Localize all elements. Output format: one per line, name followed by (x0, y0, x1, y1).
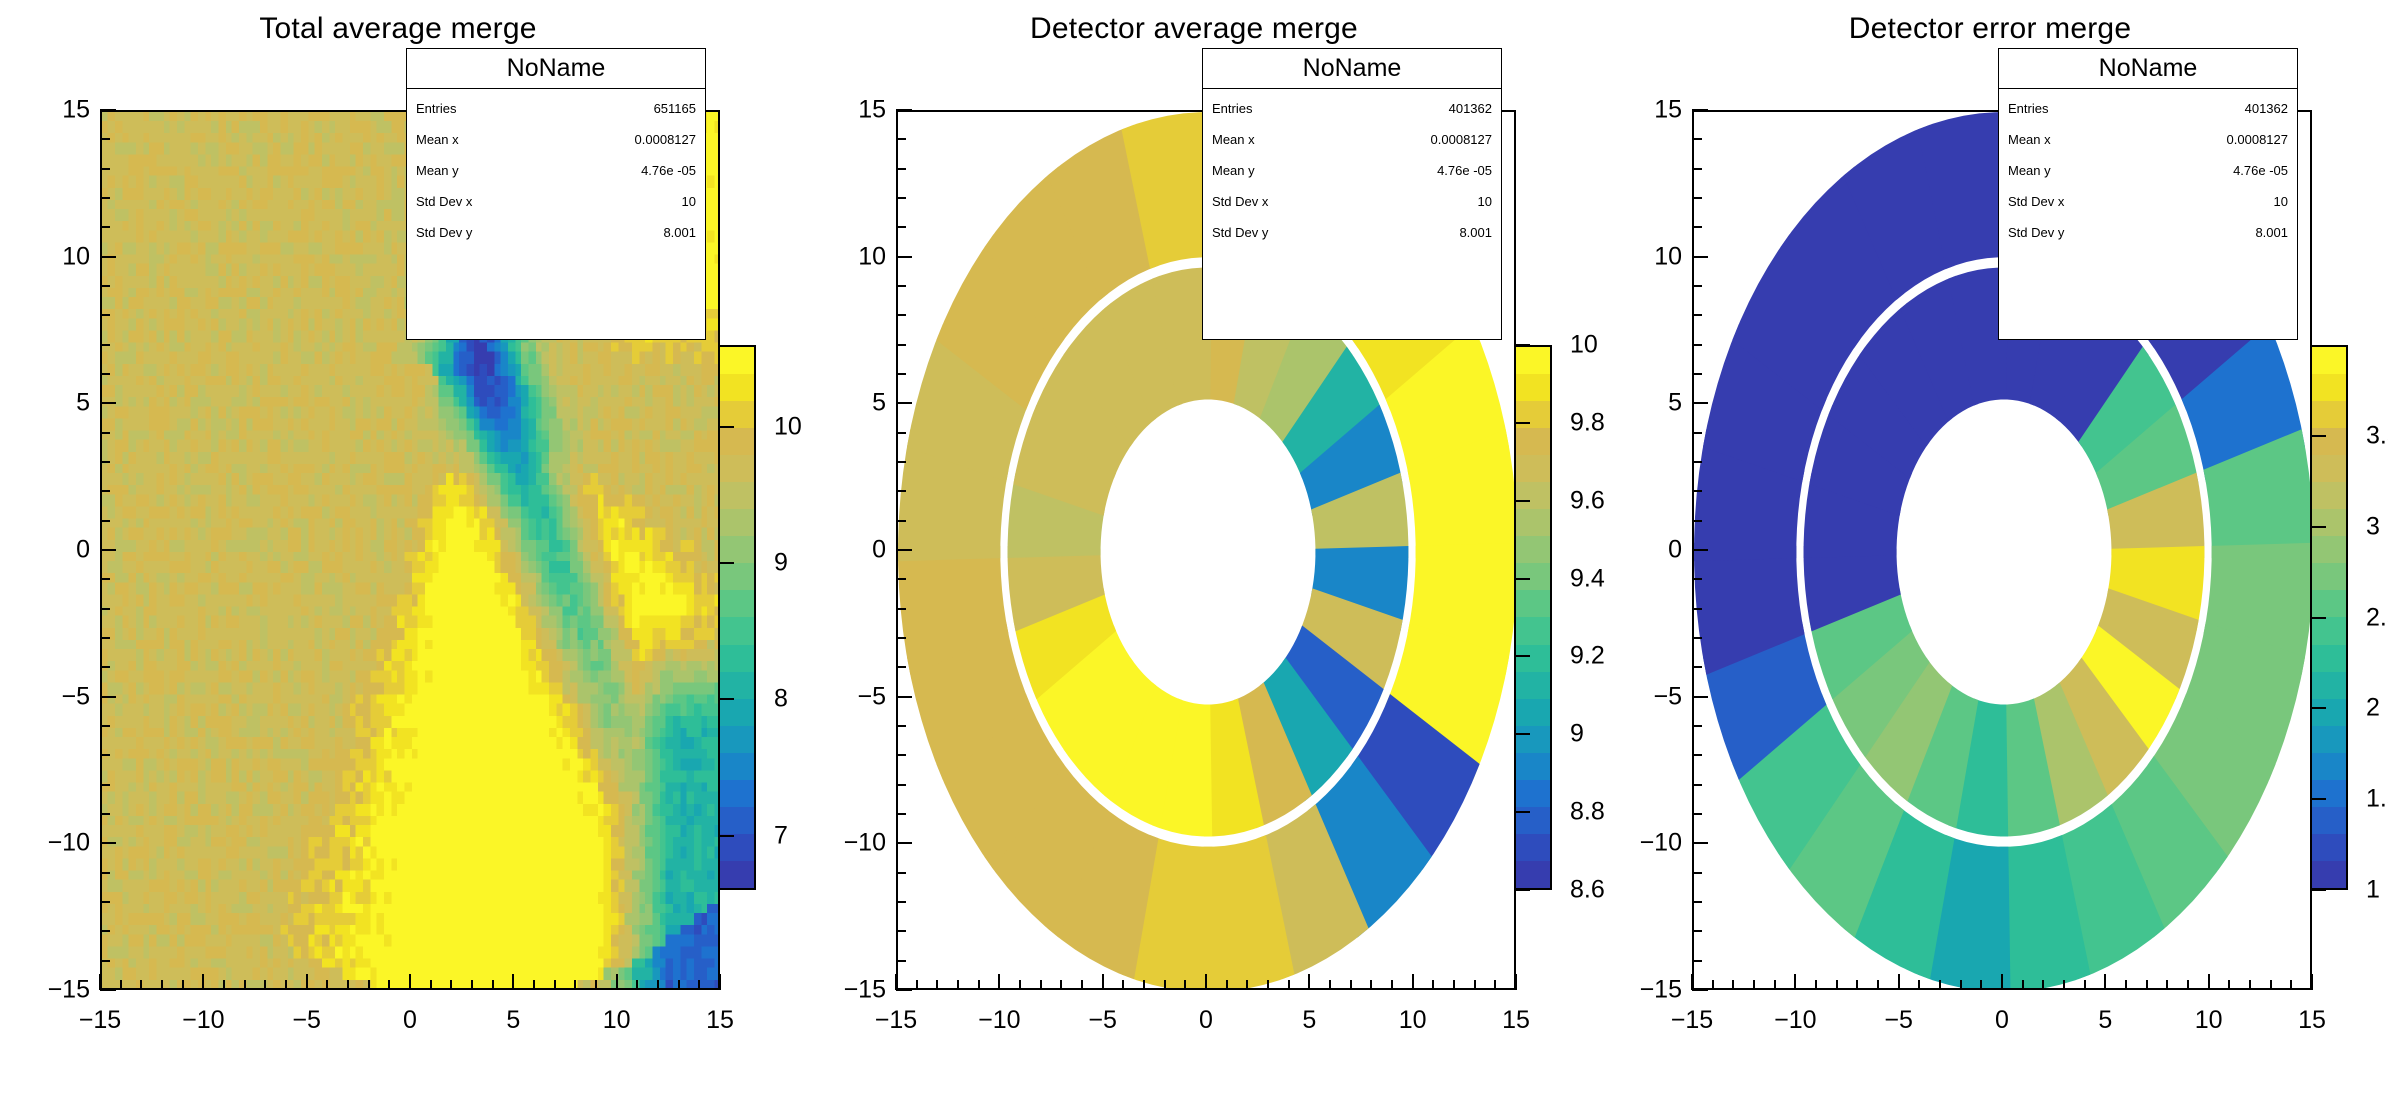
x-axis-minor-tick (471, 980, 473, 990)
x-axis-major-tick (99, 974, 101, 990)
y-axis-minor-tick (1692, 344, 1702, 346)
stats-value: 8.001 (2255, 226, 2288, 239)
stats-value: 651165 (654, 102, 696, 115)
y-axis-tick-label: 15 (824, 96, 886, 125)
x-axis-tick-label: 15 (706, 1006, 734, 1035)
y-axis-tick-label: −15 (824, 976, 886, 1005)
x-axis-minor-tick (657, 980, 659, 990)
x-axis-major-tick (719, 974, 721, 990)
y-axis-minor-tick (100, 197, 110, 199)
y-axis-minor-tick (1692, 138, 1702, 140)
color-bar-band (720, 726, 754, 753)
y-axis-minor-tick (1692, 578, 1702, 580)
color-bar-band (2312, 563, 2346, 590)
y-axis-major-tick (1692, 989, 1708, 991)
x-axis-minor-tick (2063, 980, 2065, 990)
x-axis-minor-tick (2290, 980, 2292, 990)
color-bar-tick-label: 9 (1570, 720, 1584, 749)
y-axis-minor-tick (896, 754, 906, 756)
color-bar-tick-label: 8.6 (1570, 876, 1605, 905)
stats-row: Std Dev x10 (1212, 186, 1492, 217)
y-axis-minor-tick (896, 666, 906, 668)
color-bar-tick-label: 1.5 (2366, 785, 2388, 814)
color-bar-band (720, 617, 754, 644)
y-axis-major-tick (1692, 402, 1708, 404)
color-bar-tick (1516, 422, 1530, 424)
stats-row: Entries651165 (416, 93, 696, 124)
color-bar-tick (2312, 889, 2326, 891)
color-bar-tick (720, 426, 734, 428)
color-bar-tick (1516, 344, 1530, 346)
y-axis-major-tick (1692, 696, 1708, 698)
panel-title: Detector average merge (796, 12, 1592, 46)
y-axis-minor-tick (1692, 725, 1702, 727)
x-axis-tick-label: −15 (79, 1006, 121, 1035)
y-axis-tick-label: 10 (1620, 242, 1682, 271)
stats-key: Mean y (2008, 164, 2051, 177)
color-bar-band (2312, 428, 2346, 455)
x-axis-tick-label: −10 (1774, 1006, 1816, 1035)
x-axis-minor-tick (1350, 980, 1352, 990)
y-axis-tick-label: −5 (28, 682, 90, 711)
stats-value: 10 (682, 195, 696, 208)
color-bar-tick (2312, 798, 2326, 800)
color-bar-band (1516, 347, 1550, 374)
x-axis-minor-tick (1712, 980, 1714, 990)
y-axis-tick-label: −5 (824, 682, 886, 711)
x-axis-minor-tick (2166, 980, 2168, 990)
x-axis-tick-label: 5 (2098, 1006, 2112, 1035)
y-axis-minor-tick (1692, 490, 1702, 492)
panel-detector-average-merge: Detector average merge −15−10−5051015−15… (796, 0, 1592, 1116)
x-axis-minor-tick (2146, 980, 2148, 990)
color-bar-band (720, 807, 754, 834)
y-axis-minor-tick (1692, 784, 1702, 786)
color-bar-tick-label: 9 (774, 549, 788, 578)
x-axis-minor-tick (2249, 980, 2251, 990)
color-bar-band (1516, 672, 1550, 699)
y-axis-minor-tick (1692, 168, 1702, 170)
y-axis-minor-tick (1692, 197, 1702, 199)
color-bar-band (2312, 780, 2346, 807)
stats-row: Std Dev y8.001 (1212, 217, 1492, 248)
stats-title: NoName (1999, 49, 2297, 89)
x-axis-major-tick (2208, 974, 2210, 990)
color-bar-band (1516, 726, 1550, 753)
x-axis-major-tick (1691, 974, 1693, 990)
color-bar-tick (2312, 526, 2326, 528)
stats-row: Mean x0.0008127 (416, 124, 696, 155)
color-bar-tick (2312, 707, 2326, 709)
x-axis-minor-tick (2228, 980, 2230, 990)
x-axis-minor-tick (957, 980, 959, 990)
color-bar-strip (1514, 345, 1552, 890)
y-axis-minor-tick (896, 637, 906, 639)
stats-key: Mean x (416, 133, 459, 146)
y-axis-minor-tick (100, 872, 110, 874)
color-bar-tick (1516, 733, 1530, 735)
y-axis-minor-tick (100, 344, 110, 346)
x-axis-tick-label: 15 (1502, 1006, 1530, 1035)
x-axis-minor-tick (347, 980, 349, 990)
x-axis-tick-label: 0 (1995, 1006, 2009, 1035)
y-axis-minor-tick (100, 373, 110, 375)
y-axis-minor-tick (1692, 901, 1702, 903)
color-bar-band (1516, 699, 1550, 726)
y-axis-minor-tick (1692, 608, 1702, 610)
stats-value: 10 (1478, 195, 1492, 208)
y-axis-minor-tick (1692, 432, 1702, 434)
stats-key: Std Dev x (416, 195, 472, 208)
color-bar-tick-label: 9.2 (1570, 642, 1605, 671)
color-bar-band (720, 482, 754, 509)
color-bar-band (720, 861, 754, 888)
stats-row: Mean y4.76e -05 (416, 155, 696, 186)
x-axis-major-tick (512, 974, 514, 990)
y-axis-minor-tick (896, 373, 906, 375)
y-axis-minor-tick (896, 813, 906, 815)
y-axis-tick-label: 15 (28, 96, 90, 125)
x-axis-minor-tick (2022, 980, 2024, 990)
x-axis-tick-label: 15 (2298, 1006, 2326, 1035)
x-axis-minor-tick (2042, 980, 2044, 990)
y-axis-tick-label: −10 (28, 829, 90, 858)
y-axis-minor-tick (1692, 666, 1702, 668)
y-axis-minor-tick (100, 138, 110, 140)
color-bar-band (1516, 590, 1550, 617)
y-axis-minor-tick (100, 490, 110, 492)
x-axis-minor-tick (161, 980, 163, 990)
x-axis-major-tick (306, 974, 308, 990)
color-bar-band (2312, 807, 2346, 834)
y-axis-minor-tick (896, 490, 906, 492)
x-axis-major-tick (202, 974, 204, 990)
color-bar: 10987 (718, 345, 756, 890)
panel-total-average-merge: Total average merge −15−10−5051015−15−10… (0, 0, 796, 1116)
y-axis-minor-tick (1692, 813, 1702, 815)
y-axis-major-tick (100, 256, 116, 258)
color-bar-band (1516, 753, 1550, 780)
x-axis-minor-tick (636, 980, 638, 990)
stats-title: NoName (1203, 49, 1501, 89)
x-axis-minor-tick (2187, 980, 2189, 990)
panel-detector-error-merge: Detector error merge −15−10−5051015−15−1… (1592, 0, 2388, 1116)
x-axis-minor-tick (1918, 980, 1920, 990)
x-axis-major-tick (1515, 974, 1517, 990)
color-bar-tick (720, 562, 734, 564)
y-axis-minor-tick (100, 666, 110, 668)
stats-value: 0.0008127 (635, 133, 696, 146)
color-bar-tick-label: 9.4 (1570, 564, 1605, 593)
x-axis-minor-tick (1267, 980, 1269, 990)
x-axis-minor-tick (244, 980, 246, 990)
color-bar-tick-label: 10 (1570, 331, 1598, 360)
x-axis-tick-label: −10 (182, 1006, 224, 1035)
panel-title: Detector error merge (1592, 12, 2388, 46)
stats-row: Std Dev y8.001 (2008, 217, 2288, 248)
y-axis-major-tick (896, 842, 912, 844)
color-bar-band (720, 780, 754, 807)
color-bar-band (720, 374, 754, 401)
color-bar-band (2312, 374, 2346, 401)
y-axis-minor-tick (100, 461, 110, 463)
y-axis-tick-label: 5 (1620, 389, 1682, 418)
stats-box: NoName Entries401362Mean x0.0008127Mean … (1998, 48, 2298, 340)
x-axis-minor-tick (978, 980, 980, 990)
x-axis-minor-tick (285, 980, 287, 990)
y-axis-tick-label: −10 (824, 829, 886, 858)
y-axis-tick-label: −5 (1620, 682, 1682, 711)
color-bar-tick-label: 7 (774, 821, 788, 850)
color-bar-band (2312, 401, 2346, 428)
x-axis-tick-label: 0 (1199, 1006, 1213, 1035)
x-axis-major-tick (2104, 974, 2106, 990)
x-axis-minor-tick (678, 980, 680, 990)
x-axis-minor-tick (1474, 980, 1476, 990)
x-axis-major-tick (998, 974, 1000, 990)
stats-box: NoName Entries651165Mean x0.0008127Mean … (406, 48, 706, 340)
y-axis-minor-tick (100, 930, 110, 932)
y-axis-tick-label: 5 (28, 389, 90, 418)
x-axis-minor-tick (1960, 980, 1962, 990)
stats-row: Std Dev x10 (416, 186, 696, 217)
x-axis-minor-tick (140, 980, 142, 990)
y-axis-minor-tick (100, 725, 110, 727)
stats-key: Mean y (1212, 164, 1255, 177)
color-bar-tick-label: 8 (774, 685, 788, 714)
color-bar: 109.89.69.49.298.88.6 (1514, 345, 1552, 890)
x-axis-major-tick (1794, 974, 1796, 990)
y-axis-minor-tick (100, 754, 110, 756)
color-bar-band (720, 536, 754, 563)
y-axis-major-tick (1692, 842, 1708, 844)
y-axis-minor-tick (896, 872, 906, 874)
x-axis-minor-tick (1391, 980, 1393, 990)
y-axis-minor-tick (896, 226, 906, 228)
y-axis-major-tick (896, 402, 912, 404)
y-axis-minor-tick (1692, 461, 1702, 463)
x-axis-tick-label: −5 (1884, 1006, 1913, 1035)
y-axis-minor-tick (1692, 520, 1702, 522)
color-bar-band (720, 347, 754, 374)
x-axis-major-tick (409, 974, 411, 990)
stats-title: NoName (407, 49, 705, 89)
y-axis-minor-tick (896, 285, 906, 287)
stats-body: Entries401362Mean x0.0008127Mean y4.76e … (1999, 89, 2297, 250)
x-axis-minor-tick (326, 980, 328, 990)
y-axis-major-tick (1692, 549, 1708, 551)
y-axis-tick-label: −15 (28, 976, 90, 1005)
color-bar-band (2312, 672, 2346, 699)
y-axis-minor-tick (896, 784, 906, 786)
y-axis-minor-tick (100, 637, 110, 639)
color-bar-band (720, 455, 754, 482)
y-axis-tick-label: −15 (1620, 976, 1682, 1005)
stats-value: 401362 (2245, 102, 2288, 115)
color-bar-tick-label: 10 (774, 412, 802, 441)
stats-key: Std Dev y (1212, 226, 1268, 239)
stats-key: Mean y (416, 164, 459, 177)
y-axis-tick-label: 5 (824, 389, 886, 418)
color-bar-band (1516, 617, 1550, 644)
y-axis-minor-tick (100, 226, 110, 228)
x-axis-minor-tick (1019, 980, 1021, 990)
y-axis-minor-tick (896, 608, 906, 610)
y-axis-minor-tick (896, 197, 906, 199)
stats-value: 0.0008127 (1431, 133, 1492, 146)
x-axis-minor-tick (2270, 980, 2272, 990)
y-axis-minor-tick (100, 784, 110, 786)
y-axis-major-tick (100, 989, 116, 991)
x-axis-minor-tick (264, 980, 266, 990)
color-bar-tick (1516, 500, 1530, 502)
y-axis-minor-tick (100, 578, 110, 580)
x-axis-minor-tick (182, 980, 184, 990)
x-axis-tick-label: 0 (403, 1006, 417, 1035)
x-axis-minor-tick (1836, 980, 1838, 990)
y-axis-minor-tick (896, 138, 906, 140)
y-axis-tick-label: 0 (28, 536, 90, 565)
stats-row: Entries401362 (2008, 93, 2288, 124)
color-bar-band (1516, 834, 1550, 861)
stats-value: 8.001 (663, 226, 696, 239)
x-axis-minor-tick (1081, 980, 1083, 990)
y-axis-minor-tick (100, 813, 110, 815)
y-axis-minor-tick (100, 432, 110, 434)
y-axis-minor-tick (1692, 930, 1702, 932)
stats-row: Mean x0.0008127 (2008, 124, 2288, 155)
x-axis-major-tick (1412, 974, 1414, 990)
x-axis-minor-tick (1939, 980, 1941, 990)
color-bar-band (720, 699, 754, 726)
x-axis-minor-tick (1226, 980, 1228, 990)
x-axis-tick-label: −10 (978, 1006, 1020, 1035)
y-axis-minor-tick (100, 901, 110, 903)
color-bar-band (2312, 753, 2346, 780)
color-bar-band (720, 563, 754, 590)
color-bar-tick (720, 835, 734, 837)
x-axis-minor-tick (1980, 980, 1982, 990)
color-bar-tick (1516, 655, 1530, 657)
y-axis-tick-label: 0 (824, 536, 886, 565)
x-axis-tick-label: −15 (1671, 1006, 1713, 1035)
x-axis-tick-label: 5 (506, 1006, 520, 1035)
stats-key: Entries (2008, 102, 2048, 115)
stats-value: 0.0008127 (2227, 133, 2288, 146)
x-axis-minor-tick (936, 980, 938, 990)
x-axis-minor-tick (223, 980, 225, 990)
y-axis-major-tick (896, 696, 912, 698)
color-bar-band (2312, 590, 2346, 617)
y-axis-minor-tick (896, 168, 906, 170)
x-axis-minor-tick (450, 980, 452, 990)
color-bar-tick-label: 2 (2366, 694, 2380, 723)
x-axis-minor-tick (1753, 980, 1755, 990)
y-axis-major-tick (1692, 256, 1708, 258)
x-axis-tick-label: −5 (1088, 1006, 1117, 1035)
color-bar-band (1516, 374, 1550, 401)
x-axis-major-tick (1308, 974, 1310, 990)
color-bar-band (2312, 482, 2346, 509)
color-bar-tick-label: 3 (2366, 512, 2380, 541)
x-axis-minor-tick (554, 980, 556, 990)
stats-value: 401362 (1449, 102, 1492, 115)
x-axis-major-tick (2311, 974, 2313, 990)
x-axis-minor-tick (1370, 980, 1372, 990)
color-bar-tick (2312, 617, 2326, 619)
x-axis-minor-tick (1122, 980, 1124, 990)
x-axis-minor-tick (2084, 980, 2086, 990)
color-bar-band (1516, 645, 1550, 672)
color-bar-band (720, 428, 754, 455)
y-axis-tick-label: 15 (1620, 96, 1682, 125)
x-axis-tick-label: −15 (875, 1006, 917, 1035)
color-bar-band (1516, 536, 1550, 563)
stats-row: Mean y4.76e -05 (1212, 155, 1492, 186)
stats-key: Std Dev y (416, 226, 472, 239)
stats-key: Std Dev x (2008, 195, 2064, 208)
y-axis-minor-tick (1692, 754, 1702, 756)
y-axis-major-tick (896, 549, 912, 551)
y-axis-minor-tick (100, 608, 110, 610)
color-bar-band (720, 509, 754, 536)
color-bar-band (2312, 861, 2346, 888)
x-axis-minor-tick (1060, 980, 1062, 990)
color-bar-band (720, 590, 754, 617)
color-bar-tick-label: 3.5 (2366, 421, 2388, 450)
x-axis-minor-tick (698, 980, 700, 990)
color-bar-band (720, 672, 754, 699)
x-axis-minor-tick (1164, 980, 1166, 990)
stats-row: Mean y4.76e -05 (2008, 155, 2288, 186)
y-axis-minor-tick (100, 285, 110, 287)
x-axis-major-tick (616, 974, 618, 990)
stats-key: Mean x (1212, 133, 1255, 146)
stats-key: Mean x (2008, 133, 2051, 146)
y-axis-major-tick (100, 402, 116, 404)
color-bar-tick-label: 9.8 (1570, 408, 1605, 437)
x-axis-minor-tick (388, 980, 390, 990)
y-axis-major-tick (100, 109, 116, 111)
x-axis-minor-tick (1288, 980, 1290, 990)
color-bar-tick-label: 9.6 (1570, 486, 1605, 515)
stats-key: Std Dev x (1212, 195, 1268, 208)
stats-row: Std Dev x10 (2008, 186, 2288, 217)
color-bar-band (1516, 428, 1550, 455)
x-axis-minor-tick (1453, 980, 1455, 990)
stats-box: NoName Entries401362Mean x0.0008127Mean … (1202, 48, 1502, 340)
y-axis-minor-tick (896, 901, 906, 903)
x-axis-minor-tick (1246, 980, 1248, 990)
y-axis-tick-label: −10 (1620, 829, 1682, 858)
x-axis-minor-tick (1184, 980, 1186, 990)
x-axis-minor-tick (916, 980, 918, 990)
y-axis-tick-label: 10 (28, 242, 90, 271)
stats-row: Entries401362 (1212, 93, 1492, 124)
stats-key: Std Dev y (2008, 226, 2064, 239)
y-axis-minor-tick (896, 930, 906, 932)
y-axis-minor-tick (100, 960, 110, 962)
stats-value: 4.76e -05 (1437, 164, 1492, 177)
stats-value: 10 (2274, 195, 2288, 208)
color-bar-band (1516, 509, 1550, 536)
x-axis-tick-label: 10 (2195, 1006, 2223, 1035)
color-bar-tick (720, 698, 734, 700)
y-axis-tick-label: 10 (824, 242, 886, 271)
y-axis-minor-tick (1692, 314, 1702, 316)
x-axis-minor-tick (2125, 980, 2127, 990)
y-axis-minor-tick (1692, 960, 1702, 962)
